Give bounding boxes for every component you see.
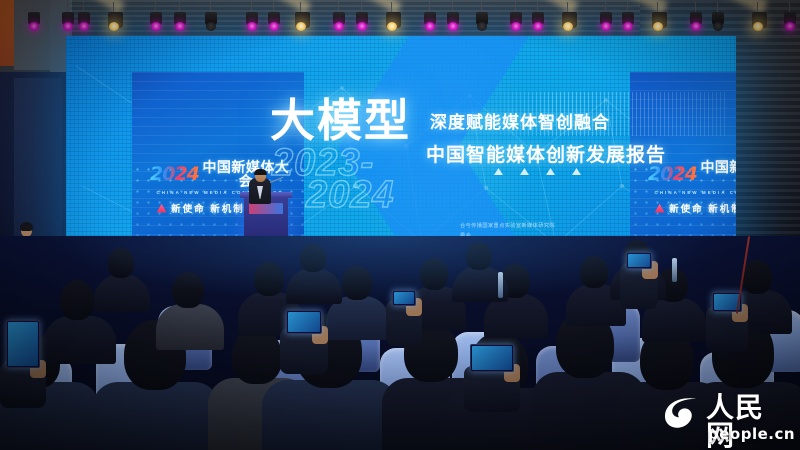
audience-person-head (108, 248, 134, 278)
audience-phone-screen (392, 290, 416, 306)
slide-year-range: 2023- 2024 (272, 144, 395, 214)
watermark: 人民网 people.cn (660, 392, 792, 444)
slide-year-to: 2024 (306, 176, 395, 214)
audience-person-head (342, 266, 372, 300)
audience-phone-screen (286, 310, 322, 334)
triangle-icon-1 (494, 168, 503, 175)
audience-person-head (300, 244, 326, 272)
audience-person-head (232, 328, 282, 384)
usher-hair (20, 222, 33, 231)
water-bottle (498, 272, 503, 298)
led-video-wall: 2024 中国新媒体大会 CHINA NEW MEDIA CONFERENCE … (66, 36, 736, 268)
audience-phone-screen (470, 344, 514, 372)
audience-person-torso (92, 382, 220, 450)
audience-person-head (172, 272, 204, 308)
slide-subtitle-1: 深度赋能媒体智创融合 (430, 108, 610, 133)
slide-content: 大模型 2023- 2024 深度赋能媒体智创融合 中国智能媒体创新发展报告 合… (238, 36, 736, 268)
podium-logo (249, 203, 283, 214)
water-bottle-2 (672, 258, 677, 282)
audience-phone-screen (6, 320, 40, 368)
slide-subtitle-2: 中国智能媒体创新发展报告 (426, 140, 666, 167)
audience-person-head (420, 258, 448, 290)
speaker-hair (254, 169, 267, 175)
slide-main-title: 大模型 (270, 98, 411, 143)
audience-person-head (580, 256, 608, 288)
people-cn-logo-icon (660, 392, 700, 432)
triangle-icon-3 (546, 168, 555, 175)
audience-person-head (254, 262, 284, 296)
audience-person-torso (44, 316, 116, 364)
triangle-icon-4 (572, 168, 581, 175)
triangle-badge-icon-left (156, 203, 167, 213)
audience-person-head (742, 260, 772, 294)
audience-person-head (60, 280, 94, 320)
triangle-icon-2 (520, 168, 529, 175)
logo-year-left: 2024 (150, 165, 199, 184)
conference-photo: 2024 中国新媒体大会 CHINA NEW MEDIA CONFERENCE … (0, 0, 800, 450)
audience-phone-screen (626, 252, 652, 269)
audience-person-torso (262, 380, 398, 450)
lighting-truss (0, 0, 800, 44)
watermark-name-en: people.cn (708, 425, 795, 443)
triangle-row-decor (494, 168, 581, 175)
audience-person-head (466, 242, 492, 270)
slide-caption-line-1: 合与传播国家重点实验室新媒体研究院 (460, 222, 670, 232)
audience-person-torso (156, 304, 224, 350)
